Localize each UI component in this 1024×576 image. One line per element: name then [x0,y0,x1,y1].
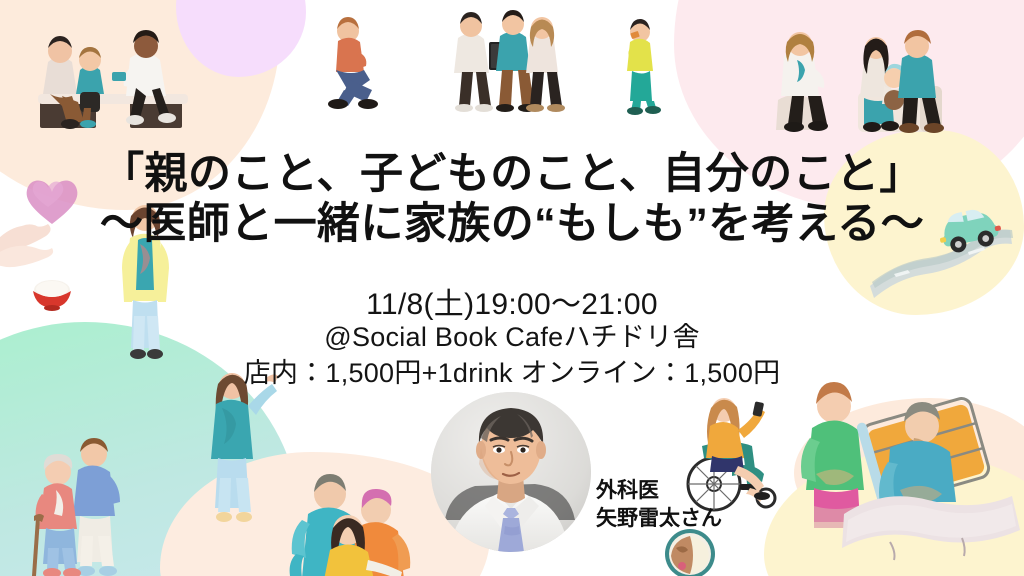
doctor-couple-tablet-illustration [448,8,578,116]
parent-child-doctor-consult-illustration [18,18,208,138]
rice-bowl-teal-illustration [654,528,726,576]
speaker-caption: 外科医 矢野雷太さん [596,477,722,532]
doctor-family-consult-illustration [770,20,960,145]
event-flyer: 「親のこと、子どものこと、自分のこと」 〜医師と一緒に家族の“もしも”を考える〜… [0,0,1024,576]
flyer-title-line-2: 〜医師と一緒に家族の“もしも”を考える〜 [0,202,1024,247]
speaker-portrait-photo [431,392,591,552]
speaker-role: 外科医 [596,477,722,505]
flyer-title-line-1: 「親のこと、子どものこと、自分のこと」 [0,152,1024,197]
speaker-name: 矢野雷太さん [596,505,722,533]
patient-in-bed-illustration [866,392,1024,574]
seated-man-illustration [314,14,394,114]
event-venue: @Social Book Cafeハチドリ舎 [0,315,1024,354]
family-group-watercolor-illustration [272,468,432,576]
person-with-phone-illustration [610,16,670,116]
elderly-woman-with-cane-and-man-illustration [22,432,152,576]
event-price: 店内：1,500円+1drink オンライン：1,500円 [0,351,1024,390]
